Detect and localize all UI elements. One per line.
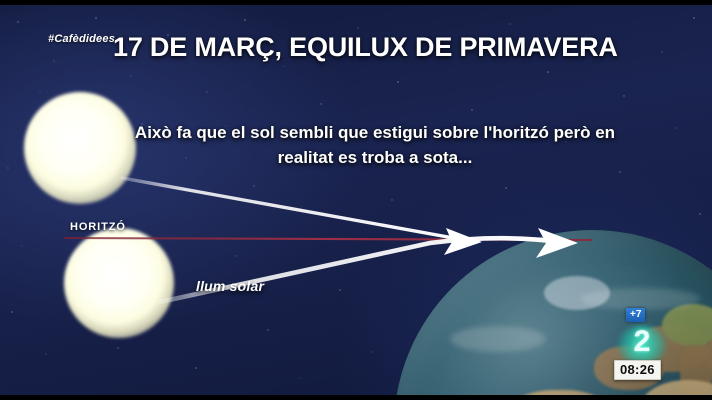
program-hashtag: #Cafèdidees: [48, 33, 115, 45]
explanation-text: Això fa que el sol sembli que estigui so…: [120, 120, 630, 170]
page-title: 17 DE MARÇ, EQUILUX DE PRIMAVERA: [113, 32, 653, 63]
letterbox-top: [0, 0, 712, 5]
sunlight-ray-label: llum solar: [196, 278, 264, 294]
broadcast-screenshot: #Cafèdidees 17 DE MARÇ, EQUILUX DE PRIMA…: [0, 0, 712, 400]
channel-logo: 2: [617, 322, 667, 362]
plus7-badge: +7: [626, 308, 645, 322]
broadcaster-watermark: +7 2 08:26: [612, 308, 686, 388]
letterbox-bottom: [0, 395, 712, 400]
onscreen-clock: 08:26: [614, 360, 661, 380]
horizon-label: HORITZÓ: [70, 221, 126, 233]
